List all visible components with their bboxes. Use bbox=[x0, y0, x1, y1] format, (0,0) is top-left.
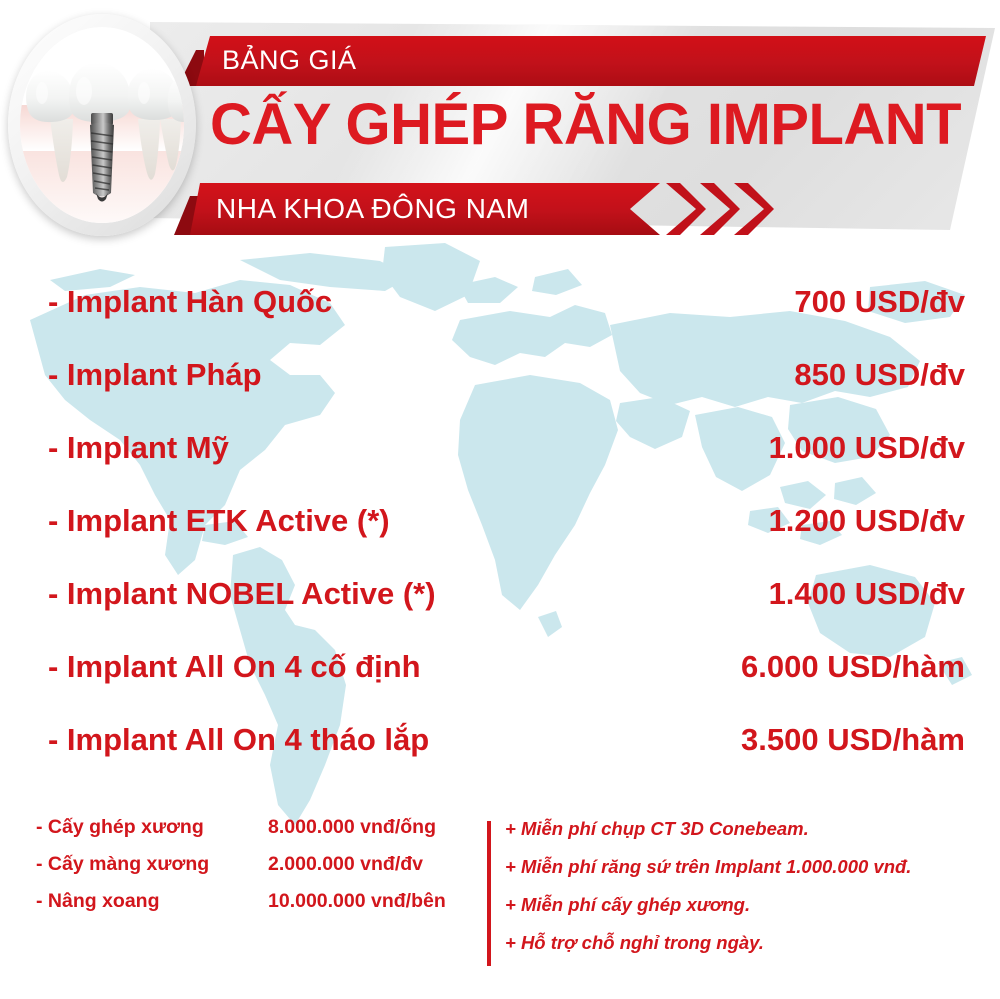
implant-price-poster: BẢNG GIÁ CẤY GHÉP RĂNG IMPLANT NHA KHOA … bbox=[0, 0, 1000, 999]
price-item-value: 1.200 USD/đv bbox=[769, 503, 965, 539]
price-item-value: 700 USD/đv bbox=[794, 284, 965, 320]
price-item-value: 850 USD/đv bbox=[794, 357, 965, 393]
benefit-item: + Miễn phí cấy ghép xương. bbox=[505, 886, 995, 924]
price-row: - Implant All On 4 tháo lắp 3.500 USD/hà… bbox=[0, 714, 1000, 787]
price-row: - Implant Mỹ 1.000 USD/đv bbox=[0, 422, 1000, 495]
vertical-divider bbox=[487, 821, 491, 966]
extra-row: - Cấy màng xương 2.000.000 vnđ/đv bbox=[36, 849, 471, 886]
price-row: - Implant Hàn Quốc 700 USD/đv bbox=[0, 276, 1000, 349]
price-row: - Implant NOBEL Active (*) 1.400 USD/đv bbox=[0, 568, 1000, 641]
price-item-name: - Implant All On 4 tháo lắp bbox=[48, 722, 429, 758]
price-item-name: - Implant Pháp bbox=[48, 357, 262, 393]
clinic-name: NHA KHOA ĐÔNG NAM bbox=[216, 193, 529, 225]
benefit-item: + Miễn phí chụp CT 3D Conebeam. bbox=[505, 810, 995, 848]
price-row: - Implant Pháp 850 USD/đv bbox=[0, 349, 1000, 422]
benefit-item: + Hỗ trợ chỗ nghỉ trong ngày. bbox=[505, 924, 995, 962]
bottom-section: - Cấy ghép xương 8.000.000 vnđ/ống - Cấy… bbox=[0, 805, 1000, 999]
benefit-item: + Miễn phí răng sứ trên Implant 1.000.00… bbox=[505, 848, 995, 886]
price-list: - Implant Hàn Quốc 700 USD/đv - Implant … bbox=[0, 276, 1000, 787]
extra-row: - Nâng xoang 10.000.000 vnđ/bên bbox=[36, 886, 471, 923]
extra-item-value: 10.000.000 vnđ/bên bbox=[268, 890, 446, 913]
price-item-value: 6.000 USD/hàm bbox=[741, 649, 965, 685]
extra-row: - Cấy ghép xương 8.000.000 vnđ/ống bbox=[36, 812, 471, 849]
price-item-name: - Implant NOBEL Active (*) bbox=[48, 576, 436, 612]
extra-services-list: - Cấy ghép xương 8.000.000 vnđ/ống - Cấy… bbox=[36, 812, 476, 923]
price-item-name: - Implant ETK Active (*) bbox=[48, 503, 390, 539]
poster-header: BẢNG GIÁ CẤY GHÉP RĂNG IMPLANT NHA KHOA … bbox=[0, 0, 1000, 250]
extra-item-name: - Cấy ghép xương bbox=[36, 816, 204, 839]
price-item-name: - Implant Mỹ bbox=[48, 430, 229, 466]
extra-item-value: 2.000.000 vnđ/đv bbox=[268, 853, 423, 876]
price-row: - Implant ETK Active (*) 1.200 USD/đv bbox=[0, 495, 1000, 568]
implant-logo bbox=[8, 14, 196, 236]
price-item-name: - Implant Hàn Quốc bbox=[48, 284, 332, 320]
price-item-value: 3.500 USD/hàm bbox=[741, 722, 965, 758]
page-title: CẤY GHÉP RĂNG IMPLANT bbox=[210, 96, 961, 154]
extra-item-value: 8.000.000 vnđ/ống bbox=[268, 816, 436, 839]
extra-item-name: - Cấy màng xương bbox=[36, 853, 209, 876]
eyebrow-label: BẢNG GIÁ bbox=[222, 45, 357, 76]
price-item-value: 1.400 USD/đv bbox=[769, 576, 965, 612]
price-item-name: - Implant All On 4 cố định bbox=[48, 649, 421, 685]
benefits-list: + Miễn phí chụp CT 3D Conebeam. + Miễn p… bbox=[505, 810, 995, 962]
logo-inner bbox=[20, 27, 184, 223]
extra-item-name: - Nâng xoang bbox=[36, 890, 160, 913]
price-item-value: 1.000 USD/đv bbox=[769, 430, 965, 466]
price-row: - Implant All On 4 cố định 6.000 USD/hàm bbox=[0, 641, 1000, 714]
